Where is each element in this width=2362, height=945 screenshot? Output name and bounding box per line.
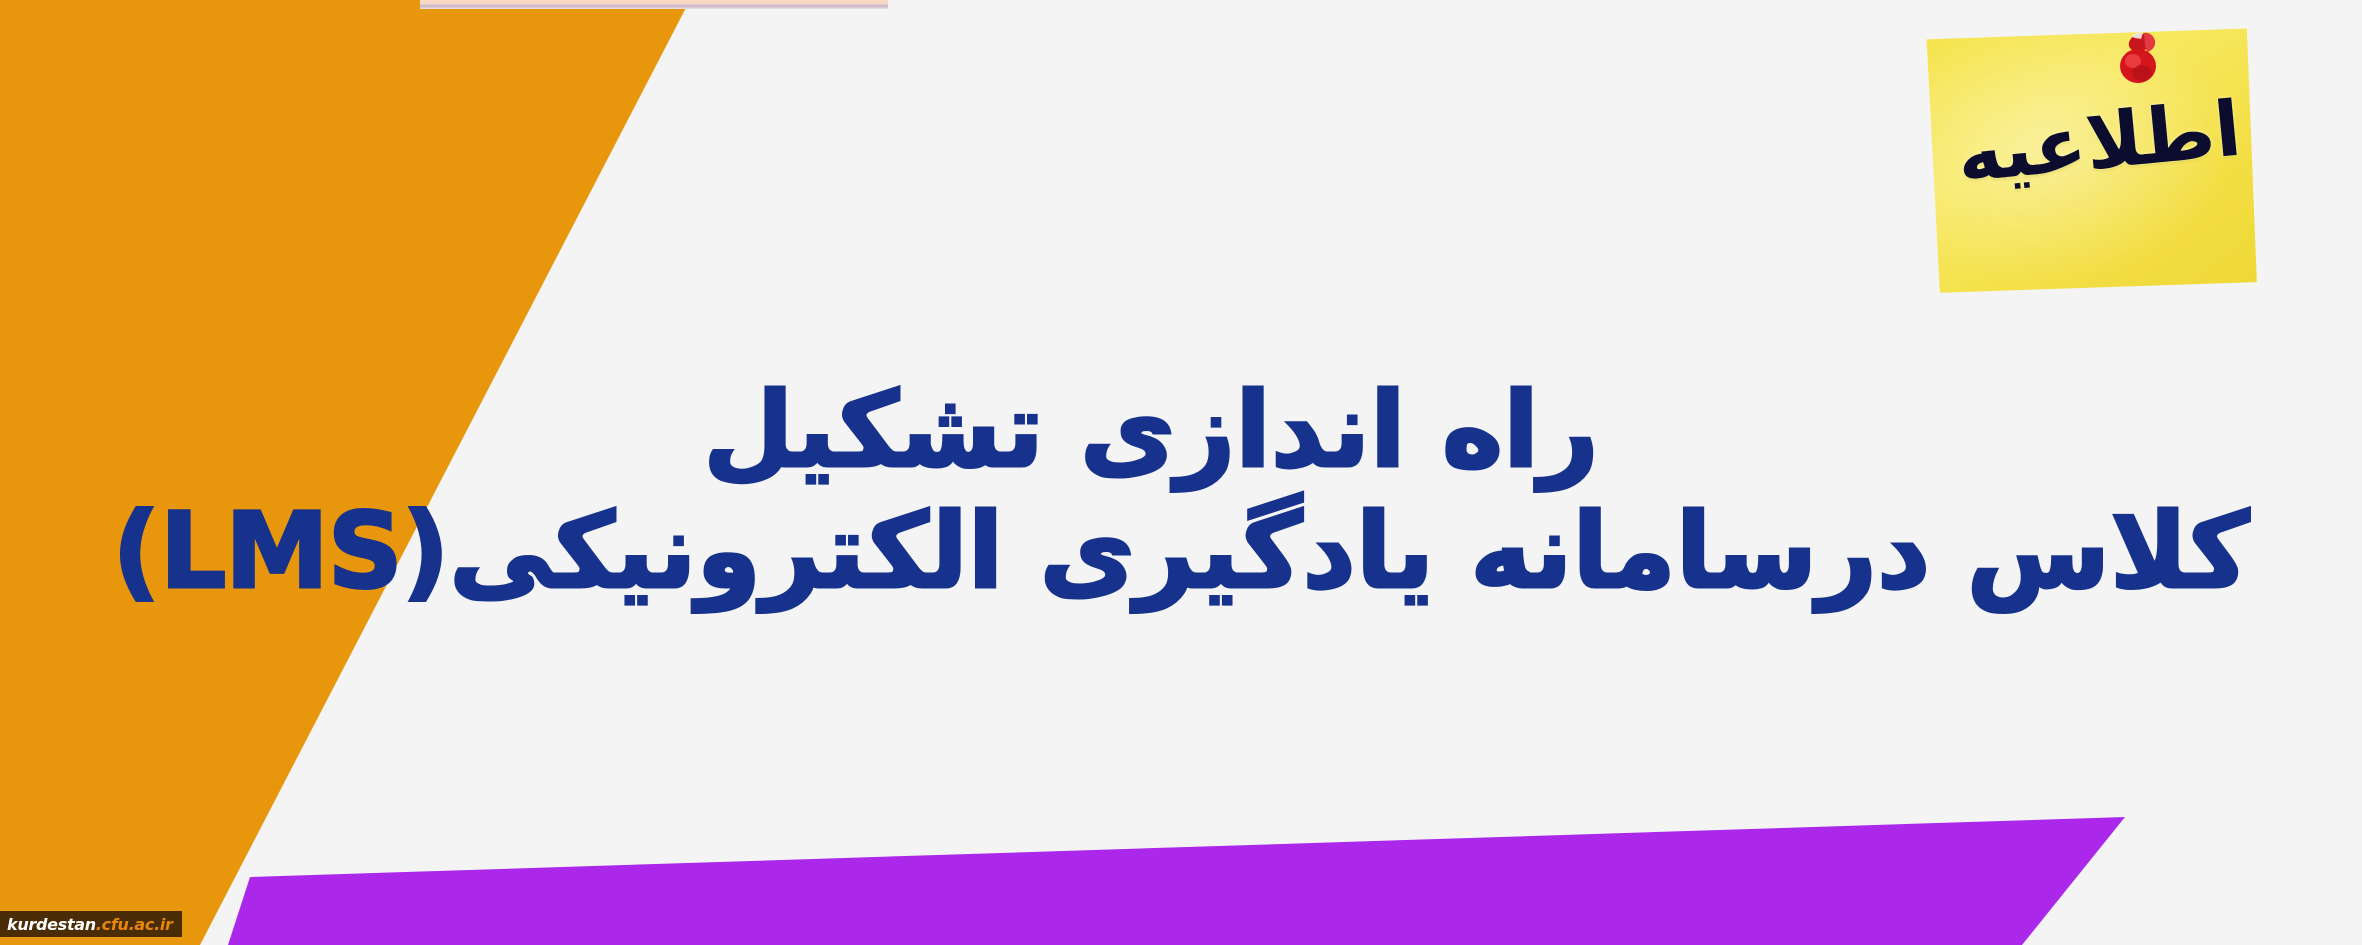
orange-wedge-shape: [0, 0, 760, 945]
purple-band-shape: [0, 785, 2362, 945]
site-watermark: kurdestan .cfu.ac.ir: [0, 911, 182, 937]
pushpin-icon: [2108, 30, 2170, 96]
announcement-banner: راه اندازی تشکیل کلاس درسامانه یادگیری ا…: [0, 0, 2362, 945]
watermark-domain: .cfu.ac.ir: [96, 915, 173, 934]
top-accent-strip: [420, 0, 888, 9]
watermark-name: kurdestan: [7, 915, 96, 934]
announcement-sticky-note: اطلاعیه: [1930, 8, 2280, 308]
